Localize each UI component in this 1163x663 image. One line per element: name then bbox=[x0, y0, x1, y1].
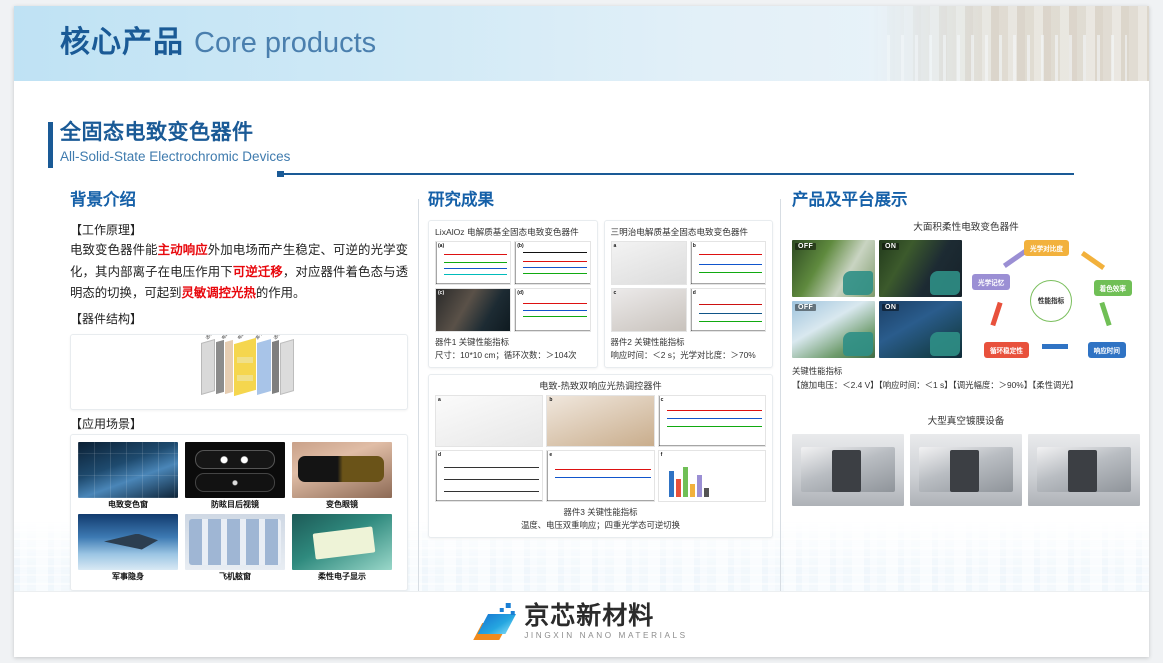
layer-electrode-back bbox=[272, 339, 279, 393]
research-card-2: 三明治电解质基全固态电致变色器件 a b bbox=[604, 220, 774, 368]
diagram-bubble-optical-memory: 光学记忆 bbox=[972, 274, 1010, 290]
panel-curves bbox=[444, 248, 507, 278]
logo-shape-blue bbox=[477, 614, 516, 634]
section-title-cn: 全固态电致变色器件 bbox=[60, 119, 290, 147]
flexible-photo-grid: OFF ON OFF ON bbox=[792, 240, 962, 358]
metric-title: 器件3 关键性能指标 bbox=[435, 506, 766, 519]
panel-bars bbox=[669, 463, 709, 497]
diagram-arrow-2 bbox=[1081, 251, 1105, 270]
figure-panel-a: a bbox=[611, 241, 687, 285]
logo-mark-icon bbox=[475, 602, 515, 642]
research-card-3-title: 电致-热致双响应光热调控器件 bbox=[429, 375, 772, 395]
panel-label: c bbox=[661, 397, 664, 403]
column-products: 产品及平台展示 大面积柔性电致变色器件 OFF ON OFF bbox=[792, 189, 1140, 506]
panel-curves bbox=[523, 248, 586, 278]
equipment-chamber bbox=[832, 450, 861, 492]
scenario-item: 变色眼镜 bbox=[292, 442, 392, 511]
figure-panel-c: (c) bbox=[435, 288, 511, 332]
scenario-photo-airplane-window bbox=[185, 514, 285, 570]
device-layer-stack: 透明导电层 电致变色层 电解质层 离子存储层 透明导电层 bbox=[201, 341, 321, 403]
scenario-photo-flexible-display bbox=[292, 514, 392, 570]
state-tag: OFF bbox=[795, 243, 816, 250]
section-divider-rule bbox=[284, 173, 1074, 175]
layer-callout-5: 透明导电层 bbox=[272, 334, 290, 341]
panel-label: e bbox=[549, 452, 552, 458]
layer-electrode-front bbox=[216, 339, 224, 393]
scenario-caption: 变色眼镜 bbox=[292, 498, 392, 511]
diagram-bubble-cycle-stability: 循环稳定性 bbox=[984, 342, 1029, 358]
slide: 核心产品Core products 全固态电致变色器件 All-Solid-St… bbox=[14, 6, 1149, 657]
panel-label: a bbox=[438, 397, 441, 403]
panel-curves bbox=[555, 457, 650, 495]
state-tag: OFF bbox=[795, 304, 816, 311]
research-card-1-metrics: 器件1 关键性能指标 尺寸：10*10 cm；循环次数：＞104次 bbox=[429, 332, 597, 367]
scenario-item: 柔性电子显示 bbox=[292, 514, 392, 583]
structure-label: 【器件结构】 bbox=[70, 309, 408, 329]
logo-text-en: JINGXIN NANO MATERIALS bbox=[524, 630, 688, 642]
slide-header: 核心产品Core products bbox=[14, 6, 1149, 81]
device-structure-figure: 透明导电层 电致变色层 电解质层 离子存储层 透明导电层 bbox=[70, 334, 408, 410]
hand-graphic bbox=[843, 271, 873, 295]
column-divider-1 bbox=[418, 199, 419, 599]
research-card-row: LixAlOz 电解质基全固态电致变色器件 (a) bbox=[428, 220, 773, 368]
figure-panel-d: d bbox=[690, 288, 766, 332]
section-title: 全固态电致变色器件 All-Solid-State Electrochromic… bbox=[60, 119, 290, 167]
scenario-caption: 防眩目后视镜 bbox=[185, 498, 285, 511]
company-logo: 京芯新材料 JINGXIN NANO MATERIALS bbox=[475, 602, 688, 642]
column-research: 研究成果 LixAlOz 电解质基全固态电致变色器件 (a) bbox=[428, 189, 773, 538]
diagram-center-line1: 性能 bbox=[1038, 297, 1051, 306]
diagram-center-node: 性能 指标 bbox=[1030, 280, 1072, 322]
logo-dot-3 bbox=[510, 611, 514, 615]
hand-graphic bbox=[930, 332, 960, 356]
page-title-cn: 核心产品 bbox=[60, 26, 184, 59]
state-tag: ON bbox=[882, 243, 899, 250]
panel-curves bbox=[444, 457, 539, 495]
slide-body: 全固态电致变色器件 All-Solid-State Electrochromic… bbox=[14, 81, 1149, 657]
diagram-center-line2: 指标 bbox=[1051, 297, 1064, 306]
paragraph-highlight-1: 主动响应 bbox=[158, 243, 208, 257]
flexible-photo-on-1: ON bbox=[879, 240, 962, 297]
research-card-2-title: 三明治电解质基全固态电致变色器件 bbox=[605, 221, 773, 241]
column-divider-2 bbox=[780, 199, 781, 599]
hand-graphic bbox=[843, 332, 873, 356]
panel-curves bbox=[699, 248, 762, 278]
page-title-en: Core products bbox=[194, 27, 376, 59]
header-city-graphic bbox=[869, 6, 1149, 81]
scenario-photo-window bbox=[78, 442, 178, 498]
background-heading: 背景介绍 bbox=[70, 189, 408, 211]
flexible-metric-value: 【施加电压：＜2.4 V】【响应时间：＜1 s】【调光幅度：＞90%】【柔性调光… bbox=[792, 379, 1140, 393]
metric-title: 器件2 关键性能指标 bbox=[611, 336, 767, 349]
scenario-item: 飞机舷窗 bbox=[185, 514, 285, 583]
figure-panel-d: d bbox=[435, 450, 543, 502]
diagram-arrow-3 bbox=[990, 302, 1002, 326]
panel-label: f bbox=[661, 452, 663, 458]
research-card-3-metrics: 器件3 关键性能指标 温度、电压双重响应；四重光学态可逆切换 bbox=[429, 502, 772, 537]
performance-diagram: 光学对比度 光学记忆 着色效率 循环稳定性 响应时间 性能 指标 bbox=[972, 240, 1132, 358]
metric-value: 温度、电压双重响应；四重光学态可逆切换 bbox=[435, 519, 766, 532]
flexible-photo-off-1: OFF bbox=[792, 240, 875, 297]
scenario-caption: 电致变色窗 bbox=[78, 498, 178, 511]
research-card-1-figure: (a) (b) bbox=[435, 241, 591, 332]
panel-label: c bbox=[614, 290, 617, 296]
principle-label: 【工作原理】 bbox=[70, 220, 408, 240]
equipment-chamber bbox=[1068, 450, 1097, 492]
panel-label: a bbox=[614, 243, 617, 249]
equipment-photo-3 bbox=[1028, 434, 1140, 506]
figure-panel-a: a bbox=[435, 395, 543, 447]
panel-curves bbox=[523, 295, 586, 325]
scenario-row-2: 军事隐身 飞机舷窗 柔性电子显示 bbox=[78, 514, 400, 583]
figure-panel-c: c bbox=[658, 395, 766, 447]
flexible-metrics: 关键性能指标 【施加电压：＜2.4 V】【响应时间：＜1 s】【调光幅度：＞90… bbox=[792, 365, 1140, 392]
diagram-arrow-5 bbox=[1042, 344, 1068, 349]
equipment-chamber bbox=[950, 450, 979, 492]
metric-value: 响应时间：＜2 s；光学对比度：＞70% bbox=[611, 349, 767, 362]
figure-panel-e: e bbox=[546, 450, 654, 502]
panel-curves bbox=[699, 295, 762, 325]
panel-label: d bbox=[438, 452, 441, 458]
scenario-caption: 柔性电子显示 bbox=[292, 570, 392, 583]
diagram-bubble-response-time: 响应时间 bbox=[1088, 342, 1126, 358]
figure-panel-a: (a) bbox=[435, 241, 511, 285]
metric-value: 尺寸：10*10 cm；循环次数：＞104次 bbox=[435, 349, 591, 362]
layer-electrochromic bbox=[225, 339, 233, 393]
metric-title: 器件1 关键性能指标 bbox=[435, 336, 591, 349]
equipment-subtitle: 大型真空镀膜设备 bbox=[792, 414, 1140, 430]
research-heading: 研究成果 bbox=[428, 189, 773, 211]
application-scenarios-grid: 电致变色窗 防眩目后视镜 变色眼镜 军事隐身 bbox=[70, 434, 408, 591]
section-title-en: All-Solid-State Electrochromic Devices bbox=[60, 147, 290, 167]
state-tag: ON bbox=[882, 304, 899, 311]
figure-panel-c: c bbox=[611, 288, 687, 332]
scenario-caption: 军事隐身 bbox=[78, 570, 178, 583]
logo-dot-2 bbox=[499, 608, 503, 612]
hand-graphic bbox=[930, 271, 960, 295]
figure-panel-b: (b) bbox=[514, 241, 590, 285]
equipment-photo-1 bbox=[792, 434, 904, 506]
diagram-bubble-coloration-efficiency: 着色效率 bbox=[1094, 280, 1132, 296]
equipment-photo-grid bbox=[792, 434, 1140, 506]
ion-arrow-forward bbox=[237, 357, 253, 363]
figure-panel-b: b bbox=[690, 241, 766, 285]
layer-ion-storage bbox=[257, 338, 271, 394]
section-title-bar bbox=[48, 122, 53, 168]
research-card-1: LixAlOz 电解质基全固态电致变色器件 (a) bbox=[428, 220, 598, 368]
background-paragraph: 电致变色器件能主动响应外加电场而产生稳定、可逆的光学变化，其内部离子在电压作用下… bbox=[70, 240, 408, 305]
paragraph-highlight-3: 灵敏调控光热 bbox=[182, 286, 256, 300]
scenario-label: 【应用场景】 bbox=[70, 414, 408, 434]
panel-curves bbox=[667, 402, 762, 440]
column-background: 背景介绍 【工作原理】 电致变色器件能主动响应外加电场而产生稳定、可逆的光学变化… bbox=[70, 189, 408, 591]
ion-arrow-backward bbox=[237, 375, 253, 381]
equipment-photo-2 bbox=[910, 434, 1022, 506]
logo-text-cn: 京芯新材料 bbox=[524, 602, 688, 630]
scenario-caption: 飞机舷窗 bbox=[185, 570, 285, 583]
panel-label: b bbox=[549, 397, 552, 403]
flexible-showcase: OFF ON OFF ON bbox=[792, 240, 1140, 358]
research-card-2-metrics: 器件2 关键性能指标 响应时间：＜2 s；光学对比度：＞70% bbox=[605, 332, 773, 367]
scenario-item: 电致变色窗 bbox=[78, 442, 178, 511]
figure-panel-d: (d) bbox=[514, 288, 590, 332]
paragraph-part-1: 电致变色器件能 bbox=[70, 243, 158, 257]
figure-panel-f: f bbox=[658, 450, 766, 502]
research-card-3: 电致-热致双响应光热调控器件 a b c bbox=[428, 374, 773, 538]
layer-transparent-conductor-front bbox=[201, 338, 215, 394]
layer-transparent-conductor-back bbox=[280, 338, 294, 394]
research-card-2-figure: a b c bbox=[611, 241, 767, 332]
research-card-1-title: LixAlOz 电解质基全固态电致变色器件 bbox=[429, 221, 597, 241]
paragraph-highlight-2: 可逆迁移 bbox=[233, 265, 283, 279]
flexible-metric-title: 关键性能指标 bbox=[792, 365, 1140, 379]
scenario-item: 防眩目后视镜 bbox=[185, 442, 285, 511]
scenario-photo-mirror bbox=[185, 442, 285, 498]
figure-panel-b: b bbox=[546, 395, 654, 447]
page-title: 核心产品Core products bbox=[60, 20, 376, 66]
scenario-photo-glasses bbox=[292, 442, 392, 498]
products-heading: 产品及平台展示 bbox=[792, 189, 1140, 211]
panel-label: (c) bbox=[438, 290, 444, 296]
scenario-row-1: 电致变色窗 防眩目后视镜 变色眼镜 bbox=[78, 442, 400, 511]
slide-footer: 京芯新材料 JINGXIN NANO MATERIALS bbox=[14, 591, 1149, 657]
research-card-3-figure: a b c d bbox=[435, 395, 766, 502]
flexible-subtitle: 大面积柔性电致变色器件 bbox=[792, 220, 1140, 236]
flexible-photo-off-2: OFF bbox=[792, 301, 875, 358]
logo-text: 京芯新材料 JINGXIN NANO MATERIALS bbox=[524, 602, 688, 642]
logo-dot-1 bbox=[505, 603, 510, 608]
panel-label: d bbox=[693, 290, 696, 296]
diagram-arrow-4 bbox=[1099, 302, 1111, 326]
paragraph-part-4: 的作用。 bbox=[256, 286, 306, 300]
panel-label: b bbox=[693, 243, 696, 249]
scenario-photo-stealth bbox=[78, 514, 178, 570]
scenario-item: 军事隐身 bbox=[78, 514, 178, 583]
diagram-bubble-optical-contrast: 光学对比度 bbox=[1024, 240, 1069, 256]
flexible-photo-on-2: ON bbox=[879, 301, 962, 358]
layer-electrolyte bbox=[234, 337, 256, 395]
